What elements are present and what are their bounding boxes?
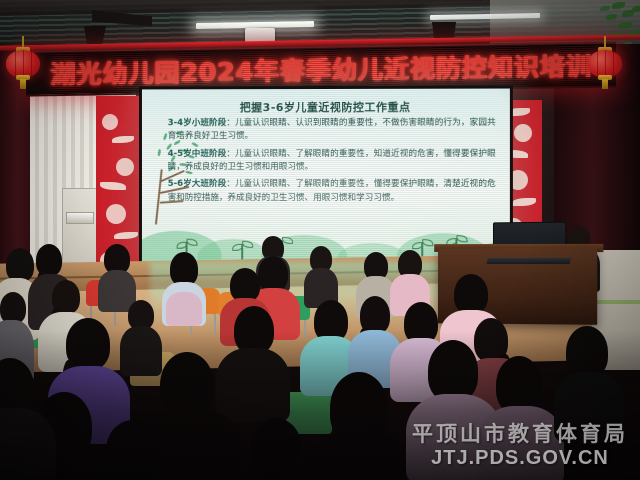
slide-canvas: 把握3-6岁儿童近视防控工作重点 3-4岁小班阶段：儿童认识眼睛、认识到眼睛的重… [142,89,510,266]
slide-paragraph: 3-4岁小班阶段：儿童认识眼睛、认识到眼睛的重要性，不做伤害眼睛的行为，家园共育… [168,117,496,144]
sprout-illustration [233,241,251,261]
red-lantern-right [588,44,622,88]
laptop-base [486,258,571,264]
slide-body: 3-4岁小班阶段：儿童认识眼睛、认识到眼睛的重要性，不做伤害眼睛的行为，家园共育… [168,117,496,209]
paragraph-lead: 5-6岁大班阶段 [168,179,227,189]
air-conditioner-vent [66,212,94,224]
slide-paragraph: 5-6岁大班阶段：儿童认识眼睛、了解眼睛的重要性，懂得要保护眼睛，清楚近视的危害… [168,178,496,205]
led-presentation-screen: 把握3-6岁儿童近视防控工作重点 3-4岁小班阶段：儿童认识眼睛、认识到眼睛的重… [139,86,513,269]
wall-green-stripe [592,300,640,304]
slide-title: 把握3-6岁儿童近视防控工作重点 [142,99,510,116]
paragraph-lead: 4-5岁中班阶段 [168,149,227,159]
paragraph-lead: 3-4岁小班阶段 [168,118,227,128]
photo-scene: 湖光幼儿园2024年春季幼儿近视防控知识培训 [0,0,640,480]
red-lantern-left [6,44,40,88]
slide-paragraph: 4-5岁中班阶段：儿童认识眼睛、了解眼睛的重要性，知道近视的危害，懂得要保护眼睛… [168,147,496,174]
